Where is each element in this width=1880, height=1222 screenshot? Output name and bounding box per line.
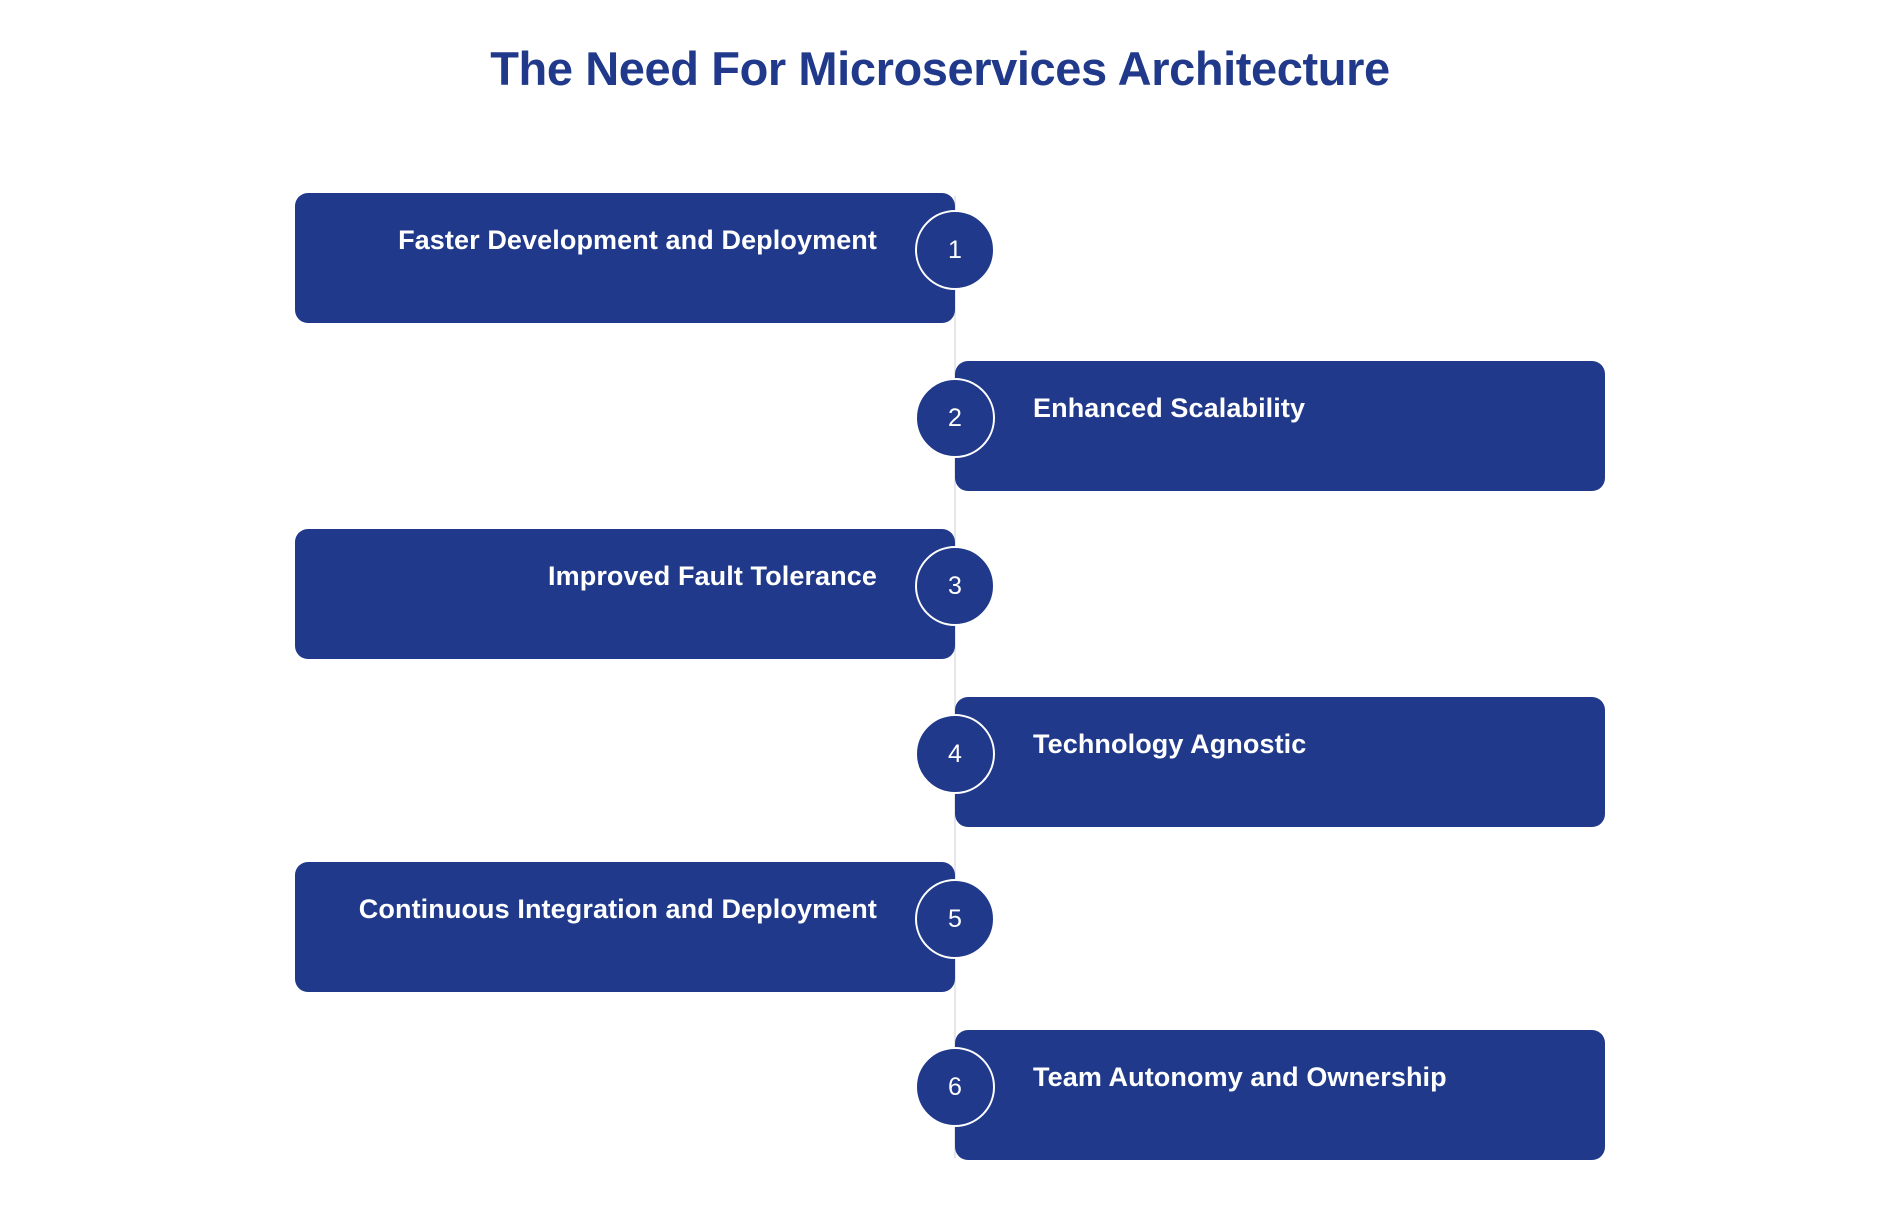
item-bar[interactable]: Technology Agnostic (955, 697, 1605, 827)
item-number: 2 (948, 406, 962, 431)
list-item: Technology Agnostic 4 (0, 697, 1880, 827)
infographic-canvas: The Need For Microservices Architecture … (0, 0, 1880, 1222)
item-number: 4 (948, 742, 962, 767)
item-number: 5 (948, 907, 962, 932)
item-label: Continuous Integration and Deployment (359, 892, 877, 927)
item-label: Improved Fault Tolerance (548, 559, 877, 594)
connector-spine (954, 196, 956, 1158)
item-number: 1 (948, 238, 962, 263)
item-bar[interactable]: Team Autonomy and Ownership (955, 1030, 1605, 1160)
list-item: Faster Development and Deployment 1 (0, 193, 1880, 323)
item-label: Enhanced Scalability (1033, 391, 1305, 426)
item-bar[interactable]: Enhanced Scalability (955, 361, 1605, 491)
list-item: Enhanced Scalability 2 (0, 361, 1880, 491)
item-number-badge[interactable]: 1 (915, 210, 995, 290)
list-item: Continuous Integration and Deployment 5 (0, 862, 1880, 992)
item-number-badge[interactable]: 2 (915, 378, 995, 458)
item-label: Faster Development and Deployment (398, 223, 877, 258)
item-number-badge[interactable]: 5 (915, 879, 995, 959)
item-bar[interactable]: Improved Fault Tolerance (295, 529, 955, 659)
page-title: The Need For Microservices Architecture (0, 42, 1880, 96)
item-number: 3 (948, 574, 962, 599)
item-bar[interactable]: Continuous Integration and Deployment (295, 862, 955, 992)
item-number-badge[interactable]: 3 (915, 546, 995, 626)
list-item: Improved Fault Tolerance 3 (0, 529, 1880, 659)
list-item: Team Autonomy and Ownership 6 (0, 1030, 1880, 1160)
item-number-badge[interactable]: 6 (915, 1047, 995, 1127)
item-number: 6 (948, 1075, 962, 1100)
item-label: Technology Agnostic (1033, 727, 1306, 762)
item-label: Team Autonomy and Ownership (1033, 1060, 1447, 1095)
item-number-badge[interactable]: 4 (915, 714, 995, 794)
item-bar[interactable]: Faster Development and Deployment (295, 193, 955, 323)
